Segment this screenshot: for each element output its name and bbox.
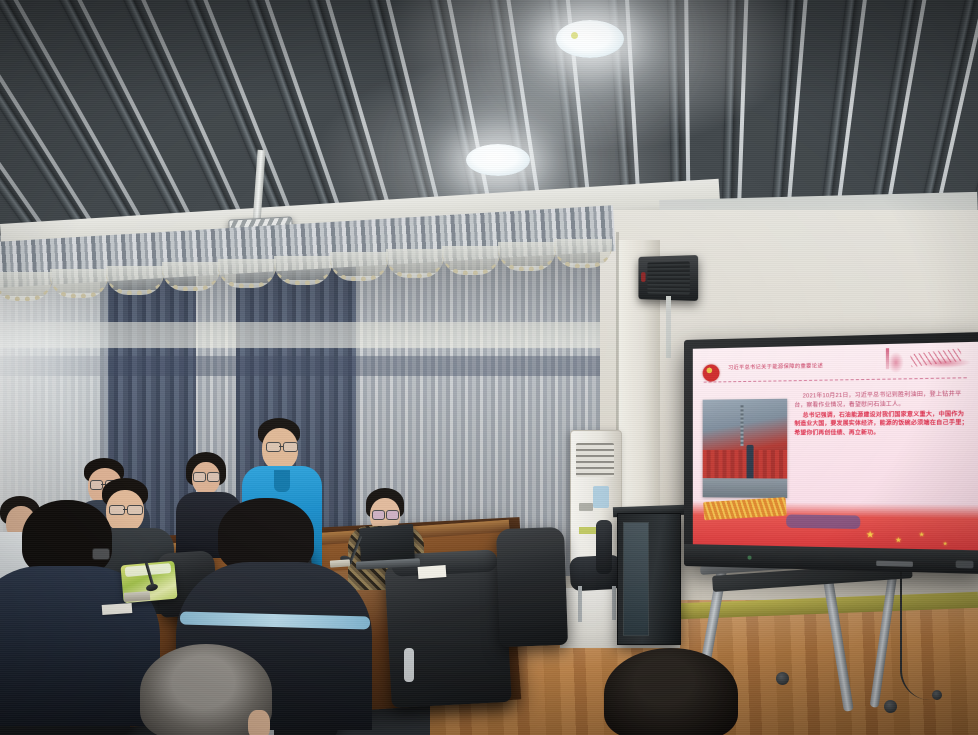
display-screen[interactable]: 习近平总书记关于能源保障的重要论述 2021年10月21日，习近平总书记到胜利油… xyxy=(693,342,978,551)
side-chair-back xyxy=(596,520,612,574)
valance-scallop xyxy=(442,246,500,275)
slide-paragraph-highlight: 总书记强调，石油能源建设对我们国家意义重大，中国作为制造业大国，要发展实体经济，… xyxy=(794,410,969,438)
stand-caster-icon xyxy=(776,672,789,685)
star-icon: ★ xyxy=(919,532,925,538)
star-icon: ★ xyxy=(895,537,902,544)
slide-caption-pill xyxy=(786,514,860,529)
drilling-rig-icon xyxy=(741,405,744,447)
polo-collar xyxy=(274,470,290,492)
star-icon: ★ xyxy=(866,530,875,540)
national-emblem-icon xyxy=(702,364,719,381)
ceiling-light-icon xyxy=(556,20,624,58)
valance-scallop xyxy=(274,256,332,285)
presentation-slide: 习近平总书记关于能源保障的重要论述 2021年10月21日，习近平总书记到胜利油… xyxy=(693,342,978,551)
slide-paragraph: 2021年10月21日，习近平总书记到胜利油田，登上钻井平台，察看作业情况，看望… xyxy=(794,390,969,410)
equipment-rack xyxy=(617,513,681,645)
smart-display[interactable]: 习近平总书记关于能源保障的重要论述 2021年10月21日，习近平总书记到胜利油… xyxy=(684,332,978,574)
paper-document xyxy=(418,565,447,579)
ceiling-light-icon xyxy=(466,144,530,176)
star-icon: ★ xyxy=(943,542,948,547)
wall-speaker-icon xyxy=(638,255,698,301)
paper-document xyxy=(102,603,133,615)
name-plate xyxy=(330,559,350,567)
stand-caster-icon xyxy=(884,700,897,713)
ear-shape xyxy=(248,710,270,735)
valance-scallop xyxy=(106,266,164,295)
display-power-button[interactable] xyxy=(956,560,974,568)
chair-mid-right xyxy=(384,557,511,708)
slide-photo xyxy=(702,398,787,498)
chair-leg xyxy=(578,586,582,622)
display-brand-logo xyxy=(876,561,913,567)
slide-body-text: 2021年10月21日，习近平总书记到胜利油田，登上钻井平台，察看作业情况，看望… xyxy=(794,390,969,440)
cable-plug-icon xyxy=(932,690,942,700)
speaker-conduit xyxy=(666,296,671,358)
power-led-icon xyxy=(748,556,752,560)
power-cable xyxy=(900,560,942,700)
chair-far-right xyxy=(496,527,568,647)
name-plate xyxy=(124,591,151,602)
slide-divider xyxy=(704,377,967,383)
chair-leg xyxy=(612,586,616,620)
chair-armrest xyxy=(404,648,414,682)
conference-room-photo: 习近平总书记关于能源保障的重要论述 2021年10月21日，习近平总书记到胜利油… xyxy=(0,0,978,735)
